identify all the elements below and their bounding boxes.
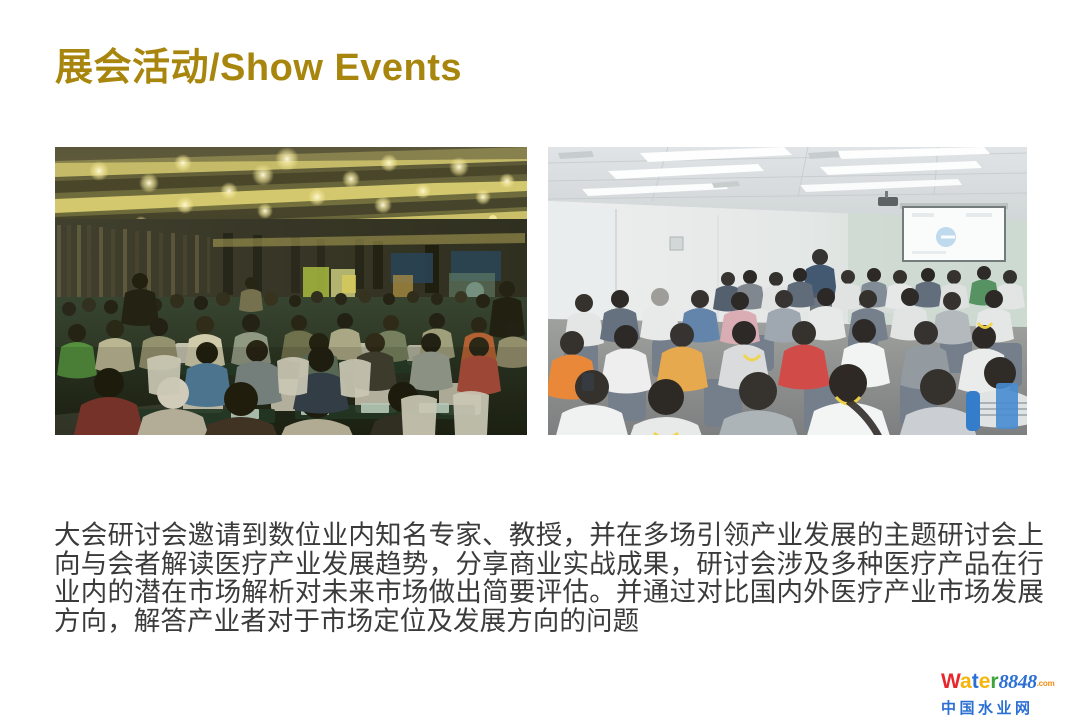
page-title: 展会活动/Show Events xyxy=(55,36,462,91)
watermark-number: 8848 xyxy=(999,671,1037,693)
conference-hall-illustration xyxy=(55,147,527,435)
watermark-tld: .com xyxy=(1037,679,1055,688)
seminar-room-audience-photo xyxy=(548,147,1027,435)
body-paragraph: 大会研讨会邀请到数位业内知名专家、教授，并在多场引领产业发展的主题研讨会上向与会… xyxy=(54,521,1044,635)
watermark-letter-r: r xyxy=(990,670,998,693)
watermark-brand-cn: 中国水业网 xyxy=(941,697,1073,718)
watermark-letter-t: t xyxy=(972,670,979,693)
watermark-letter-e: e xyxy=(979,670,991,693)
photo-row xyxy=(55,147,1027,435)
watermark-letter-a: a xyxy=(960,670,972,693)
body-paragraph-text: 大会研讨会邀请到数位业内知名专家、教授，并在多场引领产业发展的主题研讨会上向与会… xyxy=(54,521,1044,635)
watermark-logo: Water8848.com 中国水业网 xyxy=(941,671,1073,721)
watermark-letter-w: W xyxy=(941,670,960,693)
seminar-room-illustration xyxy=(548,147,1027,435)
conference-hall-audience-photo xyxy=(55,147,527,435)
watermark-brand-latin: Water8848.com xyxy=(941,671,1073,694)
